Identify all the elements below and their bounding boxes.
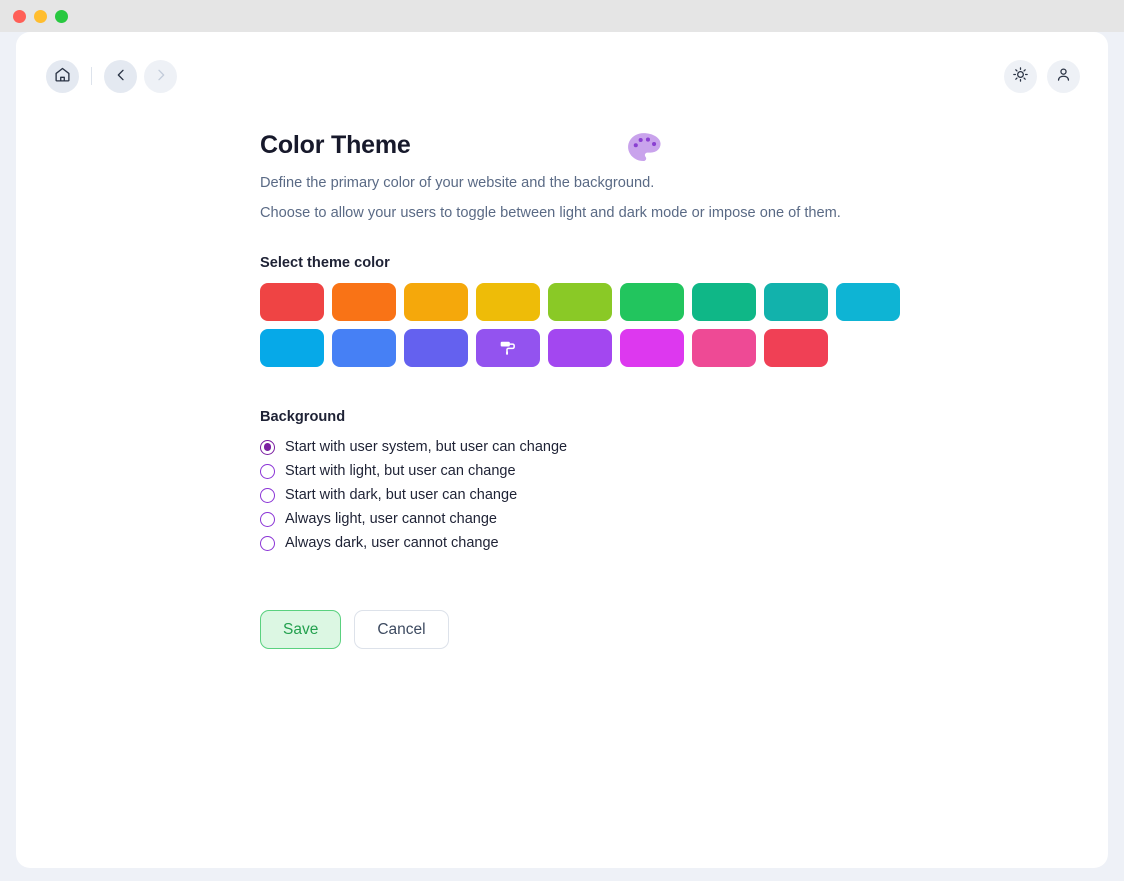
chevron-left-icon [113, 67, 129, 86]
background-options: Start with user system, but user can cha… [260, 435, 1068, 555]
user-icon [1055, 66, 1072, 86]
app-window: Color Theme Define the primary color of … [0, 0, 1124, 881]
back-button[interactable] [104, 60, 137, 93]
background-option-label: Always light, user cannot change [285, 511, 497, 527]
background-option-3[interactable]: Always light, user cannot change [260, 507, 1068, 531]
background-option-label: Always dark, user cannot change [285, 535, 499, 551]
window-titlebar [0, 0, 1124, 32]
palette-icon [624, 129, 663, 173]
theme-color-swatches [260, 283, 908, 367]
window-minimize-button[interactable] [34, 10, 47, 23]
background-option-0[interactable]: Start with user system, but user can cha… [260, 435, 1068, 459]
swatch-rose[interactable] [764, 329, 828, 367]
swatch-pink[interactable] [692, 329, 756, 367]
swatch-amber[interactable] [404, 283, 468, 321]
swatch-violet[interactable] [476, 329, 540, 367]
theme-toggle-button[interactable] [1004, 60, 1037, 93]
account-button[interactable] [1047, 60, 1080, 93]
page-subtitle-2: Choose to allow your users to toggle bet… [260, 205, 1068, 222]
home-button[interactable] [46, 60, 79, 93]
window-maximize-button[interactable] [55, 10, 68, 23]
home-icon [54, 66, 71, 86]
page-title: Color Theme [260, 132, 411, 160]
background-option-2[interactable]: Start with dark, but user can change [260, 483, 1068, 507]
swatch-fuchsia[interactable] [620, 329, 684, 367]
paint-roller-icon [497, 337, 519, 359]
top-navbar [16, 32, 1108, 120]
page-subtitle-1: Define the primary color of your website… [260, 175, 1068, 192]
swatch-teal[interactable] [764, 283, 828, 321]
background-option-label: Start with light, but user can change [285, 463, 516, 479]
background-option-label: Start with user system, but user can cha… [285, 439, 567, 455]
nav-left-group [46, 60, 177, 93]
cancel-button[interactable]: Cancel [354, 610, 448, 649]
radio-button[interactable] [260, 440, 275, 455]
swatch-green[interactable] [620, 283, 684, 321]
nav-divider [91, 67, 92, 85]
swatch-lime[interactable] [548, 283, 612, 321]
action-buttons: Save Cancel [260, 610, 1068, 649]
swatch-indigo[interactable] [404, 329, 468, 367]
background-option-4[interactable]: Always dark, user cannot change [260, 531, 1068, 555]
nav-right-group [1004, 60, 1080, 93]
swatch-emerald[interactable] [692, 283, 756, 321]
window-close-button[interactable] [13, 10, 26, 23]
swatch-yellow[interactable] [476, 283, 540, 321]
radio-button[interactable] [260, 512, 275, 527]
settings-content: Color Theme Define the primary color of … [16, 120, 1108, 649]
radio-dot [264, 443, 272, 451]
forward-button[interactable] [144, 60, 177, 93]
background-option-label: Start with dark, but user can change [285, 487, 517, 503]
page-header: Color Theme [260, 120, 1068, 160]
swatch-sky[interactable] [260, 329, 324, 367]
swatch-blue[interactable] [332, 329, 396, 367]
swatch-orange[interactable] [332, 283, 396, 321]
save-button[interactable]: Save [260, 610, 341, 649]
background-label: Background [260, 409, 1068, 425]
background-option-1[interactable]: Start with light, but user can change [260, 459, 1068, 483]
radio-button[interactable] [260, 464, 275, 479]
sun-icon [1012, 66, 1029, 86]
radio-button[interactable] [260, 488, 275, 503]
swatch-cyan[interactable] [836, 283, 900, 321]
chevron-right-icon [153, 67, 169, 86]
theme-color-label: Select theme color [260, 255, 1068, 271]
swatch-red[interactable] [260, 283, 324, 321]
radio-button[interactable] [260, 536, 275, 551]
swatch-purple[interactable] [548, 329, 612, 367]
main-card: Color Theme Define the primary color of … [16, 32, 1108, 868]
